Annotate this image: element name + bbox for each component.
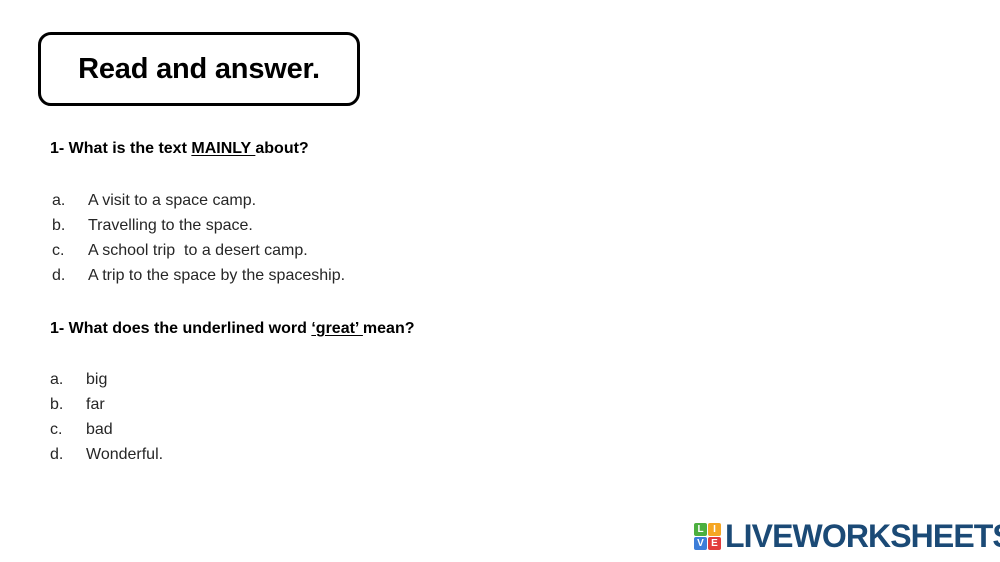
option-text: bad xyxy=(86,418,163,443)
question-2-suffix: mean? xyxy=(363,320,415,337)
option-letter: b. xyxy=(50,393,86,418)
logo-tiles: L I V E xyxy=(694,523,721,550)
option-letter: a. xyxy=(52,189,88,214)
logo-tile-l-icon: L xyxy=(694,523,707,536)
question-1-options: a. A visit to a space camp. b. Travellin… xyxy=(52,189,345,289)
page-title: Read and answer. xyxy=(78,53,320,86)
option-text: A trip to the space by the spaceship. xyxy=(88,264,345,289)
option-letter: a. xyxy=(50,368,86,393)
logo-tile-v-icon: V xyxy=(694,537,707,550)
liveworksheets-logo[interactable]: L I V E LIVEWORKSHEETS xyxy=(694,520,1000,552)
option-letter: d. xyxy=(52,264,88,289)
question-2-options: a. big b. far c. bad d. Wonderful. xyxy=(50,368,163,468)
option-letter: d. xyxy=(50,443,86,468)
option-text: big xyxy=(86,368,163,393)
question-1-prefix: 1- What is the text xyxy=(50,140,191,157)
question-2: 1- What does the underlined word ‘great’… xyxy=(50,318,415,340)
option-text: A visit to a space camp. xyxy=(88,189,345,214)
question-2-prefix: 1- What does the underlined word xyxy=(50,320,311,337)
option-text: Wonderful. xyxy=(86,443,163,468)
question-1-underlined-word: MAINLY xyxy=(191,140,255,157)
option-letter: c. xyxy=(50,418,86,443)
logo-wordmark: LIVEWORKSHEETS xyxy=(725,520,1000,552)
logo-tile-e-icon: E xyxy=(708,537,721,550)
question-1: 1- What is the text MAINLY about? xyxy=(50,138,309,160)
option-row[interactable]: b. far xyxy=(50,393,163,418)
option-row[interactable]: c. bad xyxy=(50,418,163,443)
option-letter: c. xyxy=(52,239,88,264)
option-text: far xyxy=(86,393,163,418)
option-row[interactable]: a. A visit to a space camp. xyxy=(52,189,345,214)
option-row[interactable]: d. A trip to the space by the spaceship. xyxy=(52,264,345,289)
option-row[interactable]: a. big xyxy=(50,368,163,393)
option-text: Travelling to the space. xyxy=(88,214,345,239)
title-box: Read and answer. xyxy=(38,32,360,106)
option-row[interactable]: d. Wonderful. xyxy=(50,443,163,468)
question-2-underlined-word: ‘great’ xyxy=(311,320,363,337)
question-1-suffix: about? xyxy=(255,140,308,157)
option-row[interactable]: b. Travelling to the space. xyxy=(52,214,345,239)
option-row[interactable]: c. A school trip to a desert camp. xyxy=(52,239,345,264)
option-text: A school trip to a desert camp. xyxy=(88,239,345,264)
option-letter: b. xyxy=(52,214,88,239)
logo-tile-i-icon: I xyxy=(708,523,721,536)
